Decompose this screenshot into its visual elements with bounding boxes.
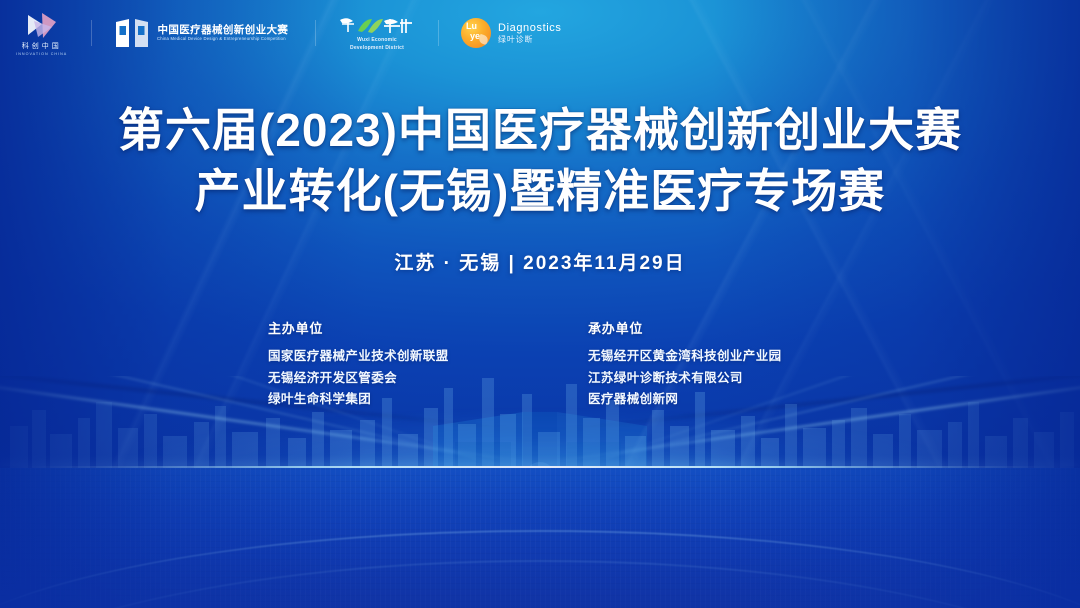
- co-organizer-item: 无锡经开区黄金湾科技创业产业园: [588, 346, 812, 368]
- organizer-item: 国家医疗器械产业技术创新联盟: [268, 346, 492, 368]
- logo-divider-3: [438, 20, 439, 46]
- logo-china-medical-device-competition: 中国医疗器械创新创业大赛 China Medical Device Design…: [114, 18, 293, 48]
- co-organizers-column: 承办单位 无锡经开区黄金湾科技创业产业园 江苏绿叶诊断技术有限公司 医疗器械创新…: [588, 318, 812, 411]
- luye-mark-top: Lu: [466, 22, 477, 31]
- event-location-date: 江苏 · 无锡 | 2023年11月29日: [0, 248, 1080, 275]
- organizer-item: 无锡经济开发区管委会: [268, 368, 492, 390]
- event-banner: 科创中国 INNOVATION CHINA 中国医疗器械创新创业大赛 China…: [0, 0, 1080, 608]
- event-title-line-2: 产业转化(无锡)暨精准医疗专场赛: [0, 161, 1080, 222]
- foreground-ground: [0, 468, 1080, 608]
- logo-innovation-china: 科创中国 INNOVATION CHINA: [14, 11, 69, 56]
- organizers-column: 主办单位 国家医疗器械产业技术创新联盟 无锡经济开发区管委会 绿叶生命科学集团: [268, 318, 492, 411]
- co-organizer-item: 医疗器械创新网: [588, 389, 812, 411]
- innovation-china-bird-icon: [22, 11, 62, 41]
- competition-door-icon: [114, 18, 150, 48]
- organizer-item: 绿叶生命科学集团: [268, 389, 492, 411]
- event-title-line-1: 第六届(2023)中国医疗器械创新创业大赛: [0, 100, 1080, 161]
- wuxi-en-label-2: Development District: [350, 45, 404, 51]
- logo-wuxi-economic-development-district: Wuxi Economic Development District: [338, 15, 416, 52]
- luye-en-label: Diagnostics: [498, 23, 561, 34]
- competition-cn-label: 中国医疗器械创新创业大赛: [157, 25, 293, 36]
- logo-divider-2: [315, 20, 316, 46]
- wuxi-calligraphy-icon: [338, 15, 416, 35]
- innovation-china-cn-label: 科创中国: [22, 43, 62, 50]
- credits-block: 主办单位 国家医疗器械产业技术创新联盟 无锡经济开发区管委会 绿叶生命科学集团 …: [0, 318, 1080, 411]
- luye-cn-label: 绿叶诊断: [498, 36, 561, 44]
- logo-divider-1: [91, 20, 92, 46]
- innovation-china-en-label: INNOVATION CHINA: [16, 52, 67, 56]
- luye-circle-icon: Lu ye: [461, 18, 491, 48]
- sponsor-logo-bar: 科创中国 INNOVATION CHINA 中国医疗器械创新创业大赛 China…: [0, 0, 1080, 66]
- competition-en-label: China Medical Device Design & Entreprene…: [157, 37, 286, 41]
- co-organizers-heading: 承办单位: [588, 318, 812, 337]
- luye-leaf-icon: [478, 34, 489, 45]
- logo-luye-diagnostics: Lu ye Diagnostics 绿叶诊断: [461, 18, 561, 48]
- headline-block: 第六届(2023)中国医疗器械创新创业大赛 产业转化(无锡)暨精准医疗专场赛 江…: [0, 100, 1080, 275]
- co-organizer-item: 江苏绿叶诊断技术有限公司: [588, 368, 812, 390]
- wuxi-en-label-1: Wuxi Economic: [357, 37, 397, 43]
- organizers-heading: 主办单位: [268, 318, 492, 337]
